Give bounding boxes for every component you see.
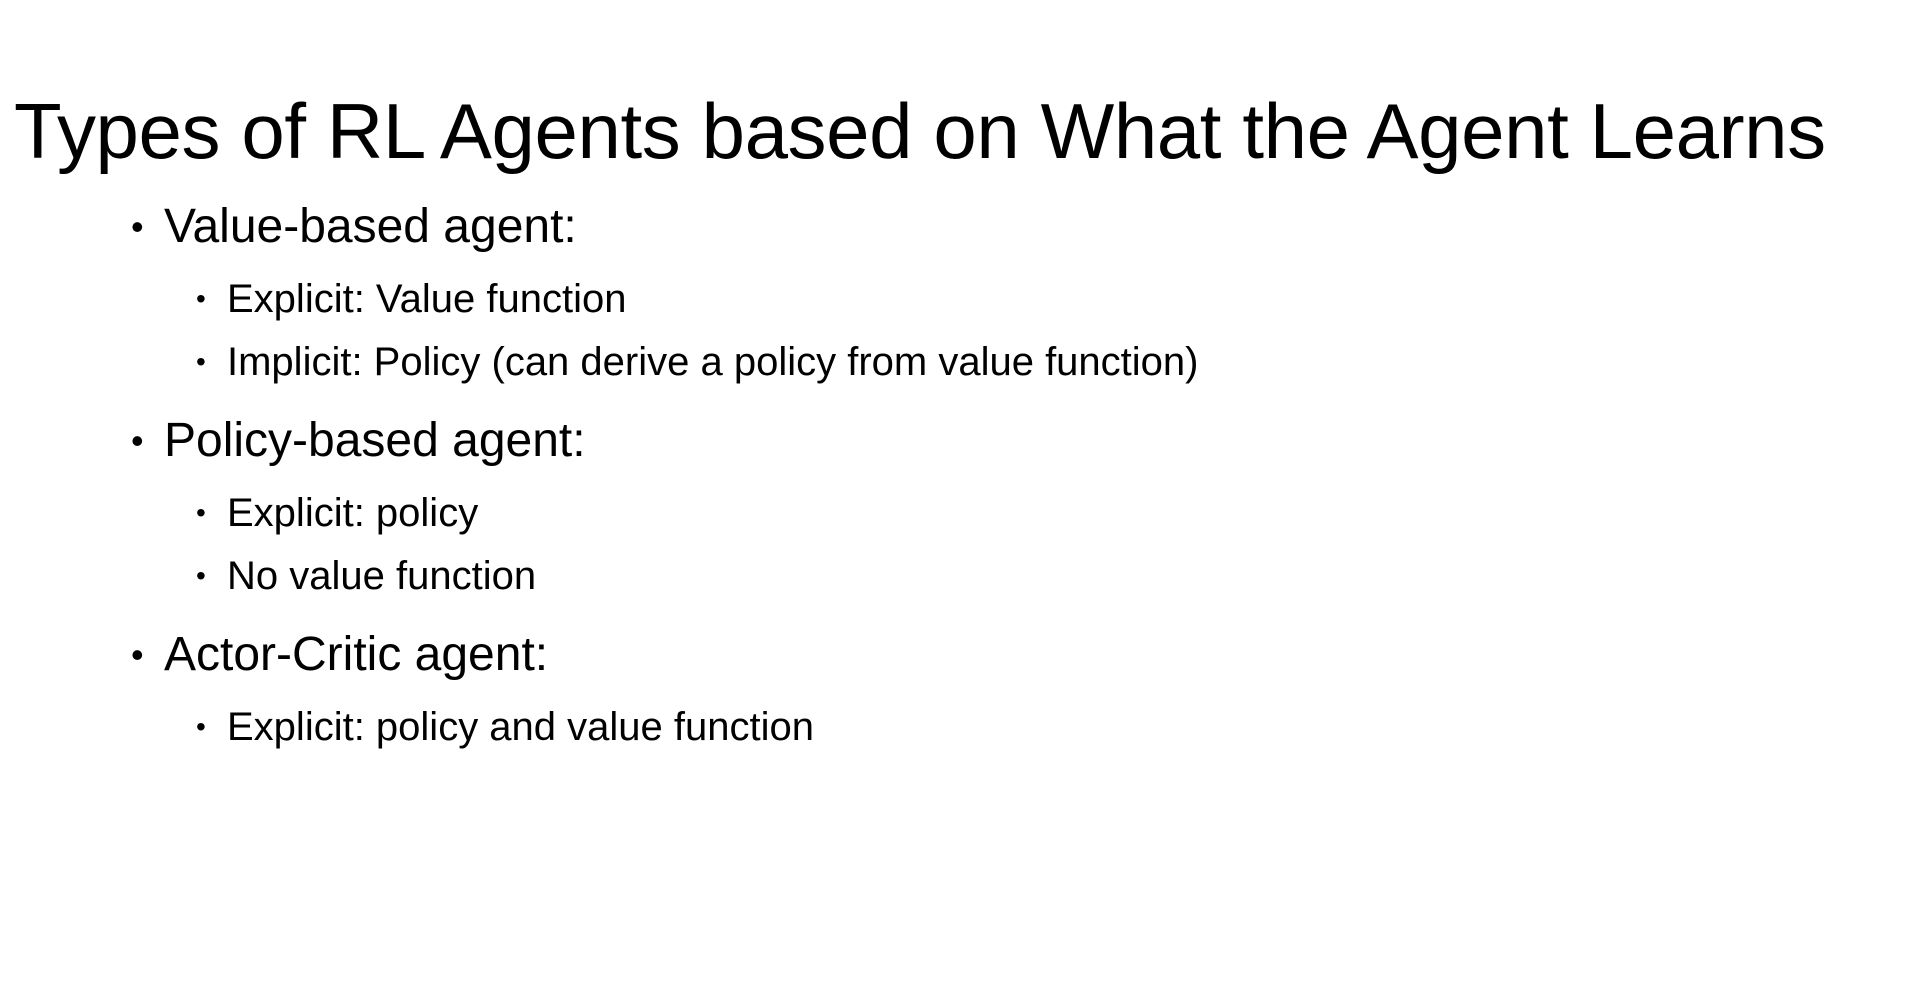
list-item: • Explicit: Value function: [0, 273, 1920, 336]
list-item-label: Value-based agent:: [164, 196, 577, 258]
list-item: • Explicit: policy and value function: [0, 701, 1920, 764]
bullet-icon: •: [131, 410, 164, 472]
list-item: • No value function: [0, 550, 1920, 613]
list-item: • Actor-Critic agent:: [0, 624, 1920, 701]
bullet-list: • Value-based agent: • Explicit: Value f…: [0, 196, 1920, 764]
list-item: • Explicit: policy: [0, 487, 1920, 550]
bullet-icon: •: [196, 487, 227, 539]
bullet-icon: •: [131, 196, 164, 258]
bullet-icon: •: [131, 624, 164, 686]
list-item-label: Explicit: Value function: [227, 273, 626, 325]
list-item: • Policy-based agent:: [0, 410, 1920, 487]
bullet-icon: •: [196, 550, 227, 602]
list-item-label: Explicit: policy: [227, 487, 478, 539]
list-item: • Implicit: Policy (can derive a policy …: [0, 336, 1920, 399]
list-item: • Value-based agent:: [0, 196, 1920, 273]
bullet-icon: •: [196, 701, 227, 753]
list-item-label: Implicit: Policy (can derive a policy fr…: [227, 336, 1198, 388]
list-item-label: No value function: [227, 550, 536, 602]
bullet-icon: •: [196, 336, 227, 388]
slide: Types of RL Agents based on What the Age…: [0, 0, 1920, 990]
list-item-label: Explicit: policy and value function: [227, 701, 814, 753]
list-item-label: Actor-Critic agent:: [164, 624, 548, 686]
list-item-label: Policy-based agent:: [164, 410, 586, 472]
bullet-icon: •: [196, 273, 227, 325]
page-title: Types of RL Agents based on What the Age…: [14, 89, 1906, 173]
